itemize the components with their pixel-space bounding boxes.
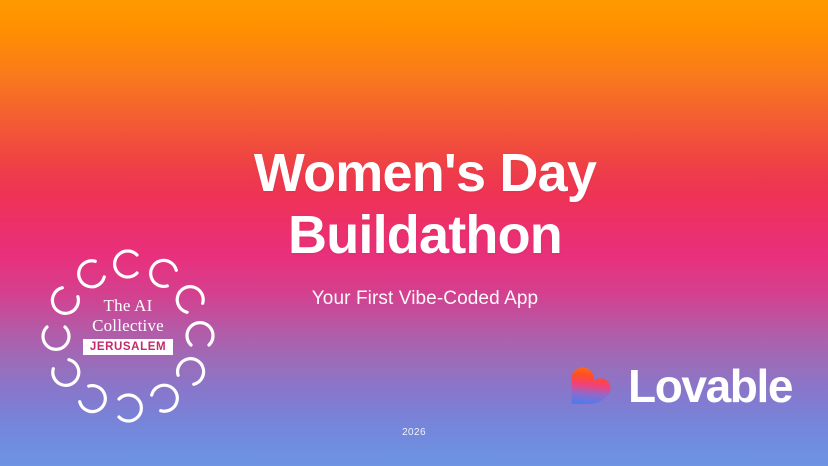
lovable-wordmark: Lovable — [628, 363, 792, 409]
ai-collective-logo: The AI Collective JERUSALEM — [48, 256, 208, 416]
logo-line-2: Collective — [48, 316, 208, 336]
title-line-2: Buildathon — [288, 205, 562, 265]
page-title: Women's Day Buildathon — [190, 142, 660, 266]
title-line-1: Women's Day — [254, 143, 596, 203]
slide-subtitle: Your First Vibe-Coded App — [190, 288, 660, 310]
lovable-logo: Lovable — [566, 362, 792, 410]
slide-year: 2026 — [0, 427, 828, 438]
chapter-badge: JERUSALEM — [83, 339, 173, 355]
title-block: Women's Day Buildathon Your First Vibe-C… — [190, 142, 660, 310]
logo-line-1: The AI — [48, 296, 208, 316]
presentation-slide: Women's Day Buildathon Your First Vibe-C… — [0, 0, 828, 466]
ai-collective-logo-text: The AI Collective JERUSALEM — [48, 296, 208, 355]
gradient-heart-icon — [566, 362, 614, 410]
